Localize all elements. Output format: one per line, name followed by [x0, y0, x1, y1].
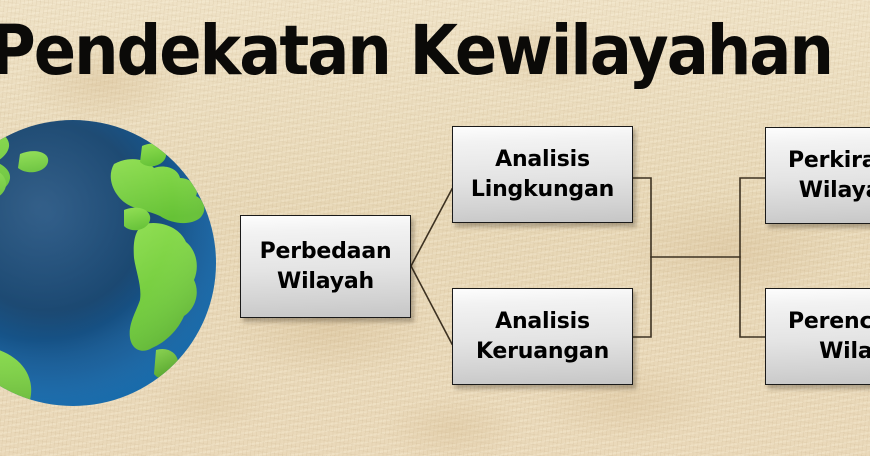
edge-column3-bus: [740, 178, 765, 337]
diagram-node-perencanaan-wilayah[interactable]: Perencanaan Wilayah: [765, 288, 870, 385]
edge-perbedaan-to-analisis-lingkungan: [411, 189, 452, 266]
diagram-node-analisis-lingkungan[interactable]: Analisis Lingkungan: [452, 126, 633, 223]
node-label: Perkiraan Wilayah: [788, 146, 870, 205]
node-label: Perencanaan Wilayah: [788, 307, 870, 366]
diagram-node-analisis-keruangan[interactable]: Analisis Keruangan: [452, 288, 633, 385]
node-label: Analisis Lingkungan: [453, 145, 632, 204]
node-label: Perbedaan Wilayah: [241, 237, 410, 296]
diagram-node-perkiraan-wilayah[interactable]: Perkiraan Wilayah: [765, 127, 870, 224]
slide-canvas: Pendekatan Kewilayahan: [0, 0, 870, 456]
diagram-node-perbedaan-wilayah[interactable]: Perbedaan Wilayah: [240, 215, 411, 318]
edge-column2-bus: [633, 178, 651, 337]
page-title: Pendekatan Kewilayahan: [0, 8, 805, 94]
node-label: Analisis Keruangan: [453, 307, 632, 366]
edge-perbedaan-to-analisis-keruangan: [411, 266, 452, 344]
earth-globe-graphic: [0, 118, 218, 408]
